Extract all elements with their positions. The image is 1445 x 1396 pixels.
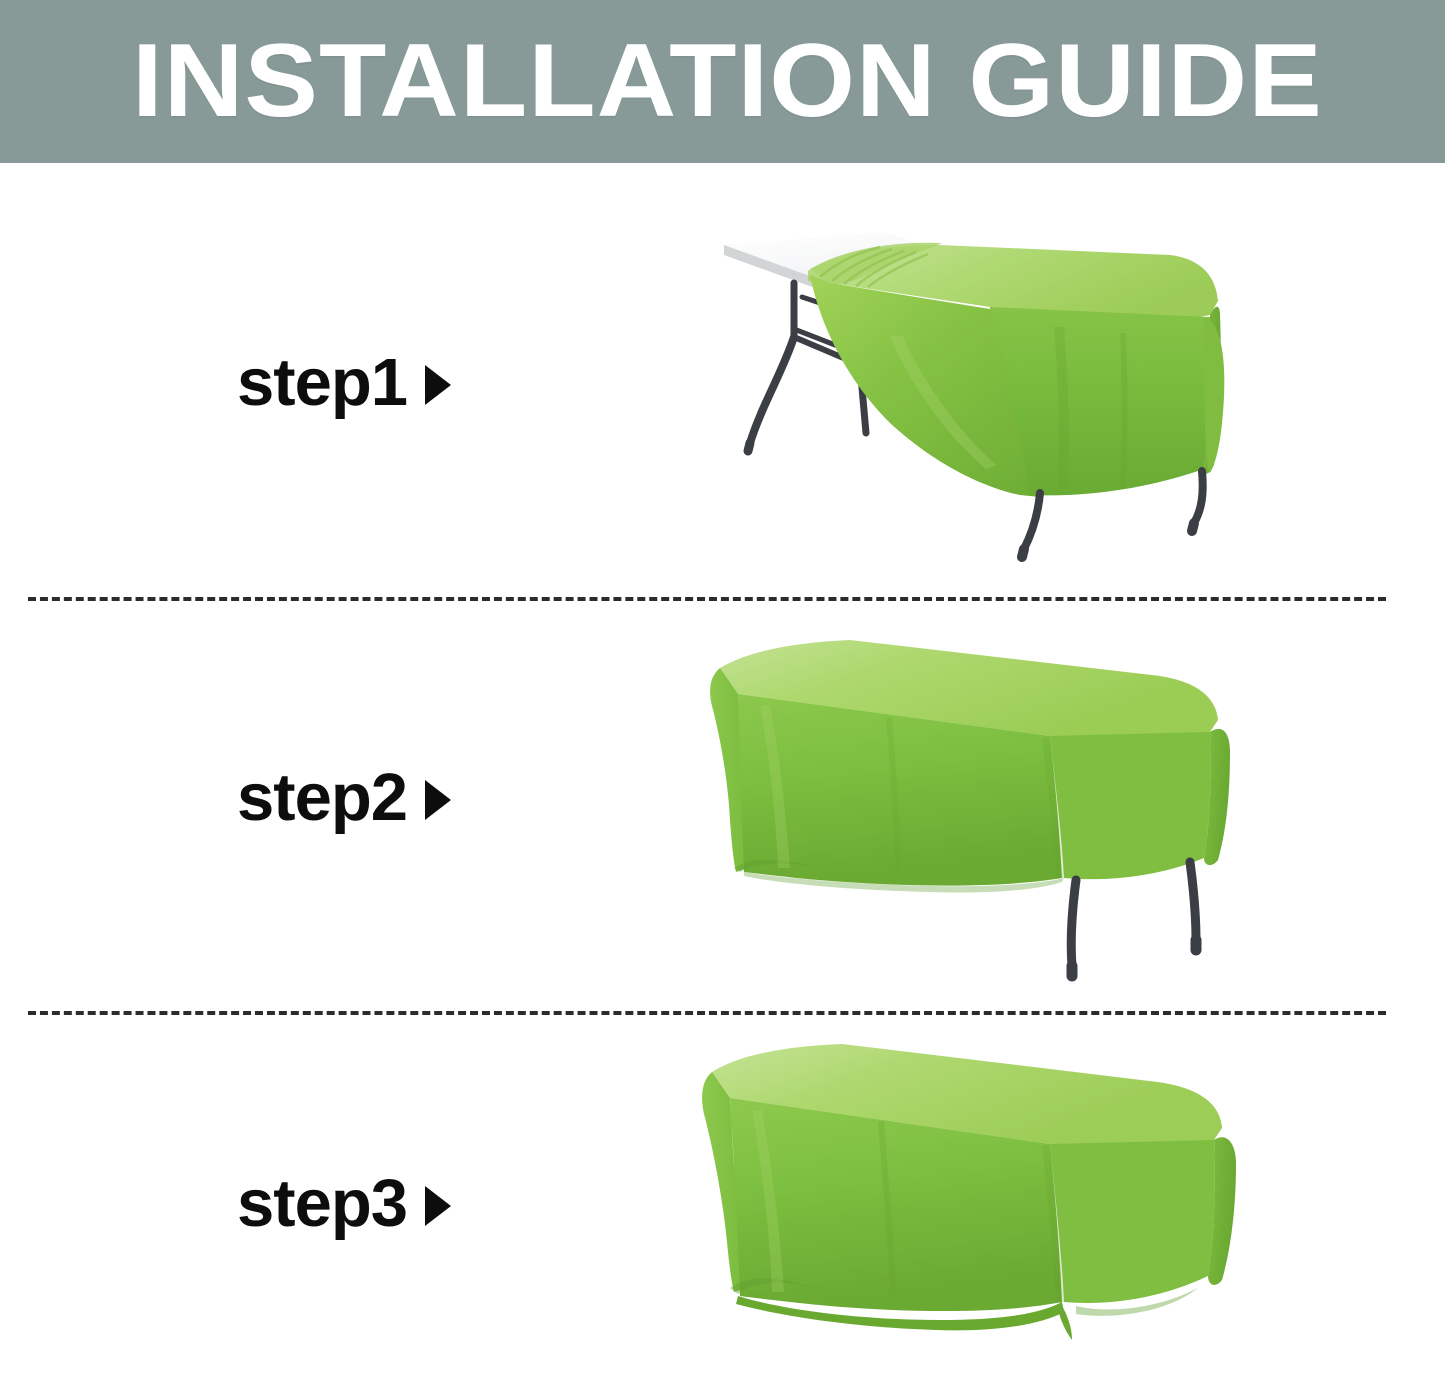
table-leg-front-right bbox=[1071, 880, 1076, 976]
figure-step-1 bbox=[690, 197, 1230, 577]
step-section-3: step3 bbox=[0, 1014, 1445, 1396]
triangle-right-icon bbox=[425, 1186, 451, 1226]
step-label-group-1: step1 bbox=[237, 348, 451, 418]
step-section-2: step2 bbox=[0, 600, 1445, 1012]
cover-right-skirt bbox=[1204, 317, 1224, 473]
step-label-group-2: step2 bbox=[237, 763, 451, 833]
triangle-right-icon bbox=[425, 780, 451, 820]
page-title: INSTALLATION GUIDE bbox=[132, 26, 1383, 136]
step-label-3: step3 bbox=[237, 1169, 407, 1239]
figure-step-2 bbox=[690, 610, 1250, 1010]
table-leg-back-right bbox=[1190, 862, 1196, 950]
figure-step-3 bbox=[690, 1020, 1250, 1396]
header-banner: INSTALLATION GUIDE bbox=[0, 0, 1445, 163]
triangle-right-icon bbox=[425, 365, 451, 405]
step-label-1: step1 bbox=[237, 348, 407, 418]
table-leg-front-right bbox=[1022, 493, 1040, 557]
cover-corner-drop bbox=[1058, 1302, 1072, 1340]
cover-right-end bbox=[1050, 732, 1211, 879]
step-label-group-3: step3 bbox=[237, 1169, 451, 1239]
step-label-2: step2 bbox=[237, 763, 407, 833]
cover-right-end bbox=[1050, 1140, 1215, 1303]
table-leg-back-right bbox=[1192, 471, 1203, 531]
step-section-1: step1 bbox=[0, 163, 1445, 598]
